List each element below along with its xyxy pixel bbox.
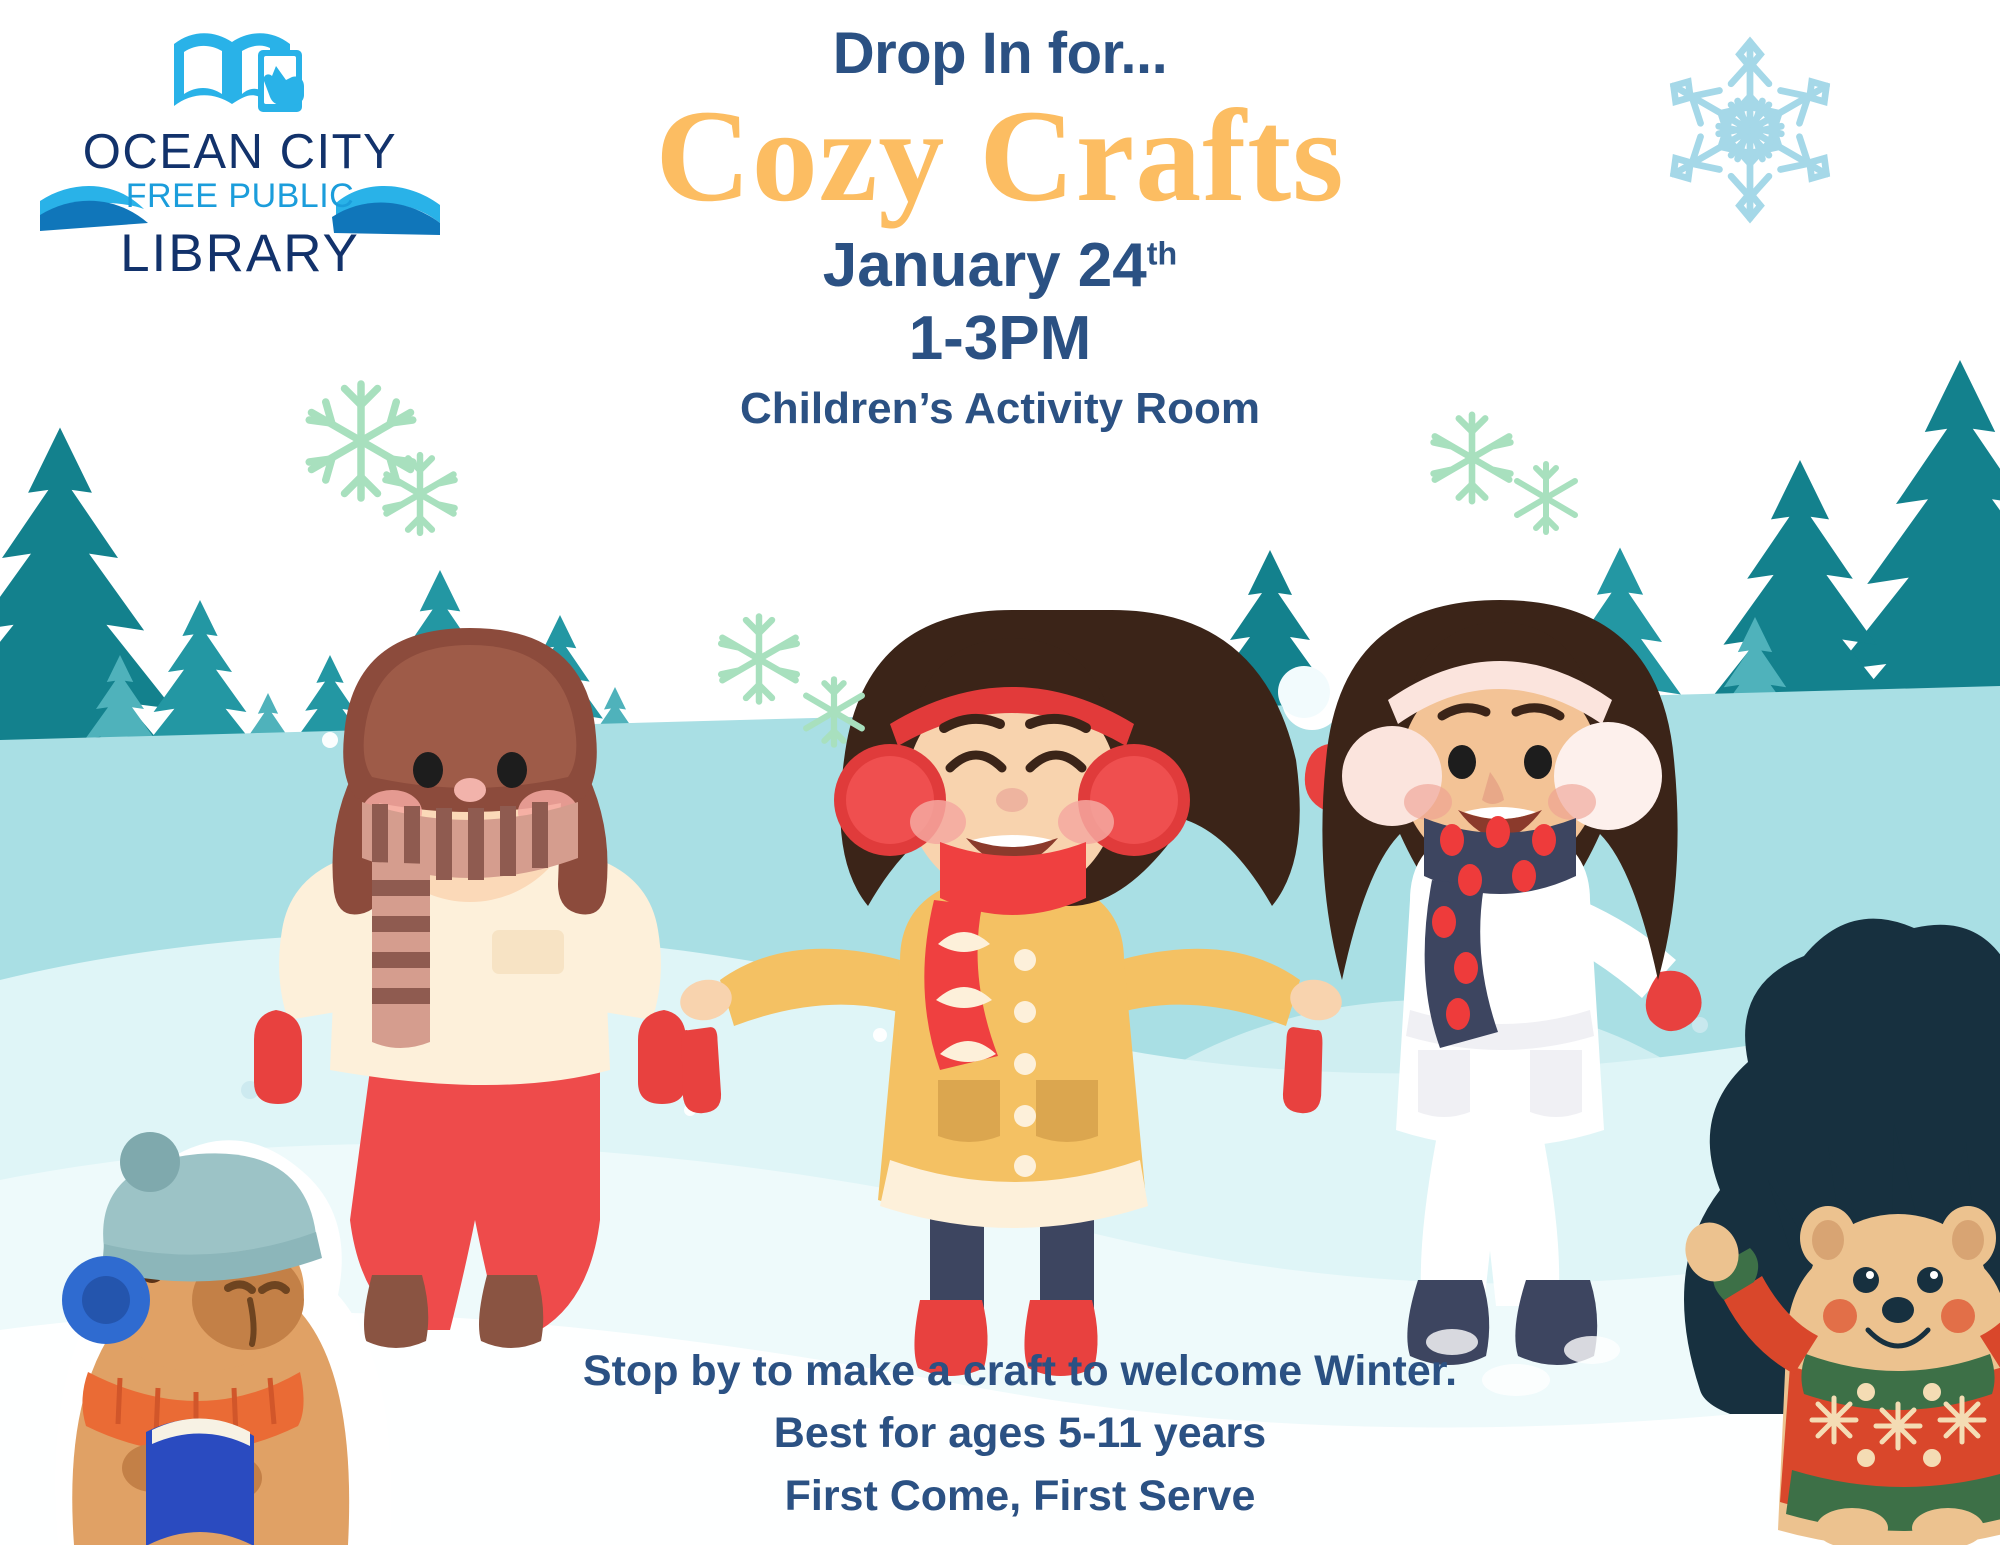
logo-line-1: OCEAN CITY [40, 128, 440, 177]
library-logo: OCEAN CITY FREE PUBLIC LIBRARY [40, 22, 440, 280]
event-date: January 24th [560, 229, 1440, 302]
snowflake-icon [1496, 448, 1596, 548]
page-title: Cozy Crafts [560, 87, 1440, 226]
footer-line-2: Best for ages 5-11 years [480, 1402, 1560, 1464]
event-location: Children’s Activity Room [560, 380, 1440, 437]
snowflake-icon [1640, 25, 1860, 235]
headline-block: Drop In for... Cozy Crafts January 24th … [560, 24, 1440, 437]
snowflake-icon [786, 664, 882, 760]
footer-line-1: Stop by to make a craft to welcome Winte… [480, 1340, 1560, 1402]
kicker-text: Drop In for... [560, 24, 1440, 85]
event-date-ordinal: th [1147, 236, 1177, 272]
logo-line-3: LIBRARY [40, 227, 440, 280]
logo-line-2: FREE PUBLIC [40, 177, 440, 216]
footer-block: Stop by to make a craft to welcome Winte… [480, 1340, 1560, 1527]
open-book-tablet-icon [170, 22, 310, 122]
event-date-text: January 24 [823, 231, 1147, 300]
poster-canvas: OCEAN CITY FREE PUBLIC LIBRARY Drop In f… [0, 0, 2000, 1545]
footer-line-3: First Come, First Serve [480, 1465, 1560, 1527]
event-time: 1-3PM [560, 303, 1440, 374]
snowflake-icon [366, 440, 474, 548]
